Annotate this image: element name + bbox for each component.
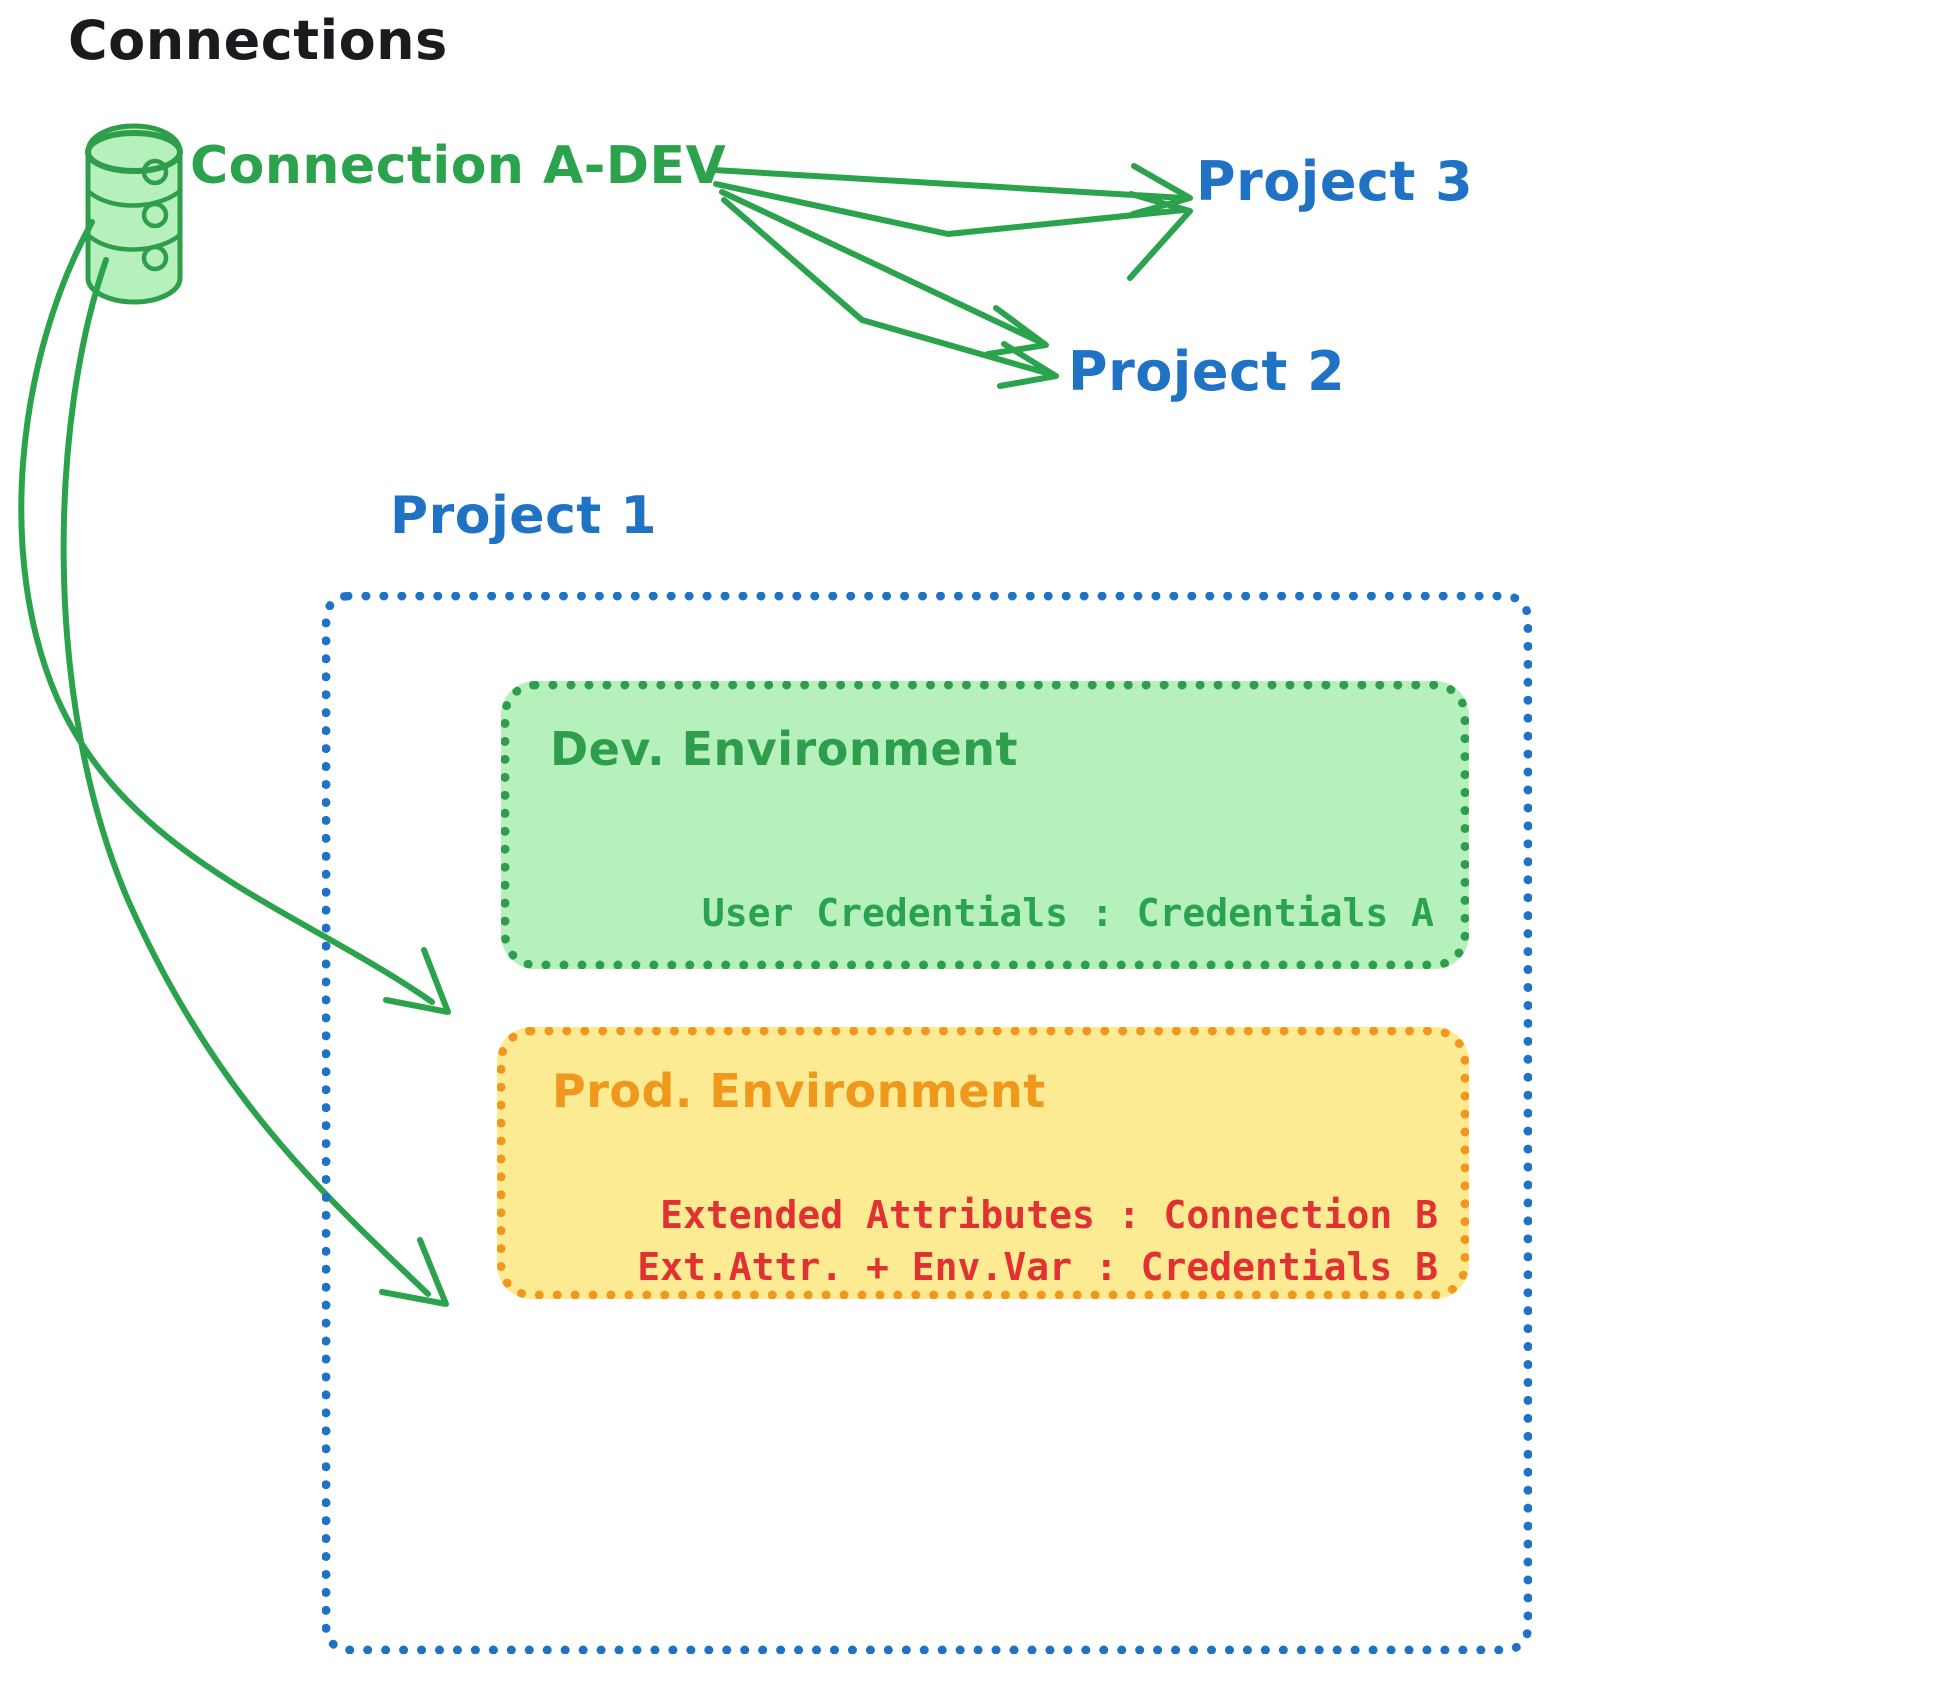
- project-3-label: Project 3: [1196, 155, 1473, 209]
- dev-environment-box: Dev. Environment User Credentials : Cred…: [501, 681, 1469, 969]
- connection-label: Connection A-DEV: [190, 140, 726, 192]
- prod-environment-box: Prod. Environment Extended Attributes : …: [497, 1027, 1469, 1299]
- connector-adev-to-project3-b: [716, 184, 1190, 278]
- prod-environment-attribute: Extended Attributes : Connection B: [660, 1196, 1438, 1234]
- prod-environment-attribute: Ext.Attr. + Env.Var : Credentials B: [637, 1248, 1438, 1286]
- database-cylinder-icon: [88, 126, 180, 302]
- connector-adev-to-project2-b: [724, 200, 1056, 386]
- diagram-canvas: Connections Connection A-DEV Project 3 P…: [0, 0, 1938, 1691]
- project-1-container: Dev. Environment User Credentials : Cred…: [322, 592, 1532, 1654]
- connector-adev-to-project2-a: [722, 192, 1046, 354]
- prod-environment-title: Prod. Environment: [552, 1068, 1046, 1114]
- project-2-label: Project 2: [1068, 345, 1345, 399]
- dev-environment-attribute: User Credentials : Credentials A: [702, 894, 1434, 932]
- dev-environment-title: Dev. Environment: [550, 726, 1018, 772]
- page-title: Connections: [68, 14, 448, 68]
- connector-adev-to-project3-a: [714, 166, 1190, 214]
- project-1-label: Project 1: [390, 490, 657, 542]
